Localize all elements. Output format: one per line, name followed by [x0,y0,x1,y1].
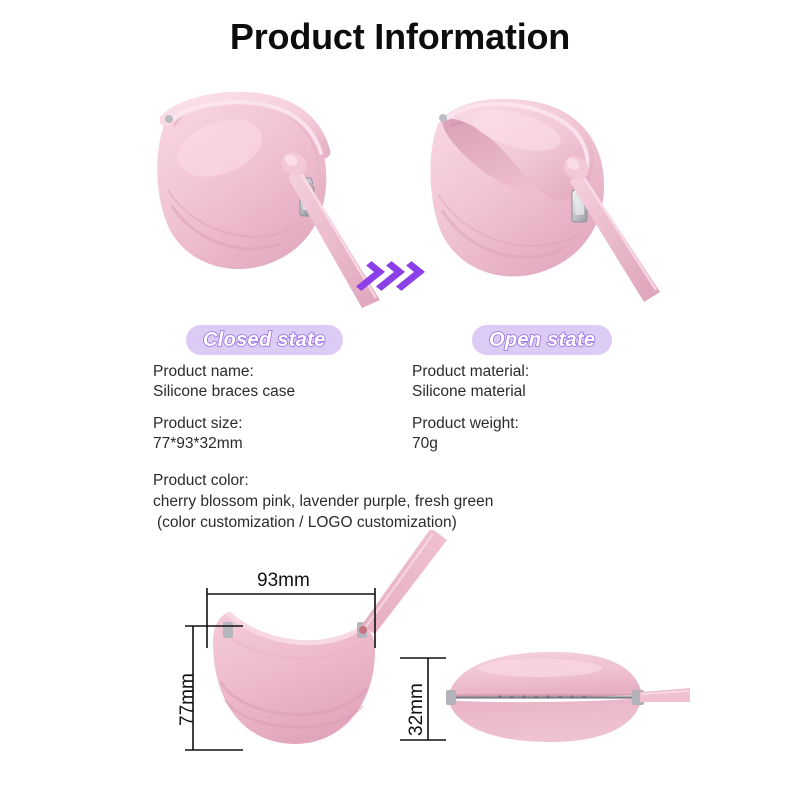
spec-product-size: Product size: 77*93*32mm [153,414,403,454]
spec-value: Silicone braces case [153,382,403,402]
spec-product-color: Product color: cherry blossom pink, lave… [153,470,673,533]
height-dimension-label: 77mm [177,673,199,726]
spec-label: Product size: [153,414,403,434]
spec-value: 77*93*32mm [153,434,403,454]
specs-left-column: Product name: Silicone braces case Produ… [153,362,403,466]
product-information-page: Product Information [0,0,800,800]
spec-label: Product material: [412,362,662,382]
product-showcase [0,78,800,318]
thickness-dimension-label: 32mm [406,683,428,736]
width-dimension-label: 93mm [257,570,310,592]
closed-state-product-image [148,78,388,308]
spec-value: 70g [412,434,662,454]
badge-closed-state: Closed state [186,325,343,355]
spec-product-material: Product material: Silicone material [412,362,662,402]
spec-label: Product name: [153,362,403,382]
triple-chevron-right-icon [358,250,428,302]
open-state-product-image [424,78,674,308]
spec-value: Silicone material [412,382,662,402]
specs-right-column: Product material: Silicone material Prod… [412,362,662,466]
spec-value: cherry blossom pink, lavender purple, fr… [153,491,673,512]
badge-open-state: Open state [472,325,612,355]
page-title: Product Information [0,16,800,58]
spec-product-name: Product name: Silicone braces case [153,362,403,402]
spec-product-weight: Product weight: 70g [412,414,662,454]
spec-label: Product color: [153,470,673,491]
spec-label: Product weight: [412,414,662,434]
dimension-diagrams: 93mm 77mm [0,530,800,800]
side-view-diagram: 32mm [400,640,690,760]
